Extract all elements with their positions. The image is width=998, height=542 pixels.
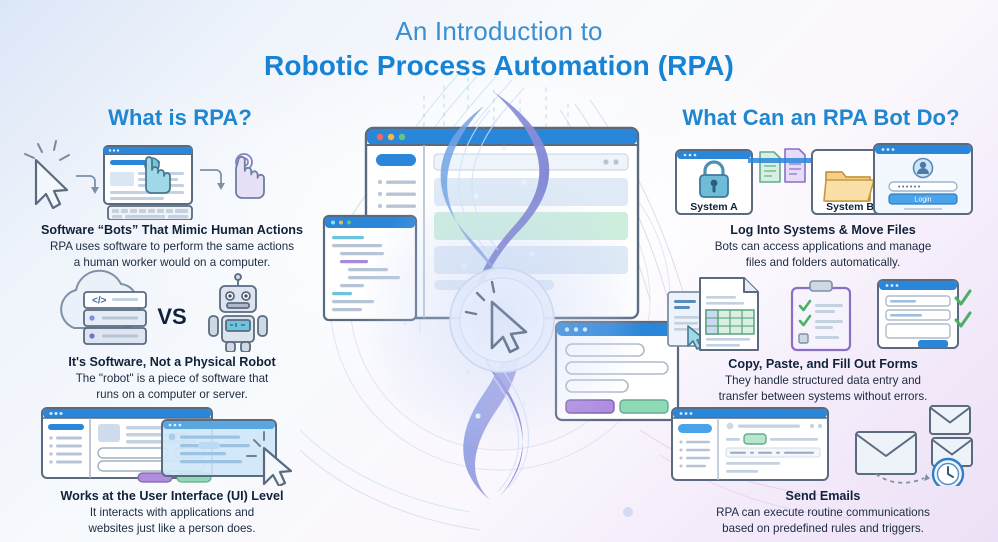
title-line-1: An Introduction to	[0, 14, 998, 48]
feature-desc-line-2: websites just like a person does.	[12, 521, 332, 537]
robot-icon	[209, 274, 267, 352]
illustration-cloud-vs-robot: </> VS	[12, 268, 332, 350]
code-glyph: </>	[92, 296, 107, 307]
envelope-icon	[856, 432, 916, 474]
feature-software-not-robot: </> VS	[12, 268, 332, 402]
vs-label: VS	[157, 304, 186, 329]
page-title: An Introduction to Robotic Process Autom…	[0, 14, 998, 84]
keyboard-icon	[108, 206, 192, 220]
feature-desc-line-1: The "robot" is a piece of software that	[12, 371, 332, 387]
arrow-icon	[876, 474, 930, 483]
illustration-ui-level	[12, 402, 332, 484]
envelope-icon	[930, 406, 970, 434]
feature-title: Copy, Paste, and Fill Out Forms	[660, 356, 986, 373]
login-button-label: Login	[914, 197, 931, 204]
email-client-window-icon	[672, 408, 828, 480]
spark-lines	[25, 141, 69, 160]
clipboard-checklist-icon	[792, 281, 850, 350]
center-illustration	[318, 86, 682, 506]
feature-desc-line-2: files and folders automatically.	[660, 255, 986, 271]
feature-desc-line-1: They handle structured data entry and	[660, 373, 986, 389]
feature-title: Works at the User Interface (UI) Level	[12, 488, 332, 505]
feature-ui-level: Works at the User Interface (UI) Level I…	[12, 402, 332, 536]
feature-title: Software “Bots” That Mimic Human Actions	[12, 222, 332, 239]
feature-desc-line-1: RPA uses software to perform the same ac…	[12, 239, 332, 255]
feature-log-into-systems: System A	[660, 136, 986, 270]
illustration-systems-and-files: System A	[660, 136, 986, 218]
system-a-window: System A	[676, 150, 752, 214]
login-window-icon: •••••• Login	[874, 144, 972, 214]
system-b-label: System B	[826, 201, 874, 213]
table-icon	[706, 310, 754, 334]
feature-desc-line-1: Bots can access applications and manage	[660, 239, 986, 255]
password-mask: ••••••	[898, 184, 922, 191]
infographic-page: An Introduction to Robotic Process Autom…	[0, 0, 998, 542]
form-window-icon	[878, 280, 970, 348]
feature-desc-line-1: RPA can execute routine communications	[660, 505, 986, 521]
feature-title: Log Into Systems & Move Files	[660, 222, 986, 239]
tap-hand-icon	[236, 154, 264, 198]
illustration-bots-mimic-actions	[12, 136, 332, 218]
avatar-icon	[914, 159, 933, 178]
mouse-cursor-icon	[36, 160, 67, 208]
center-glow	[360, 172, 642, 454]
server-stack-icon: </>	[84, 292, 146, 344]
right-column-heading: What Can an RPA Bot Do?	[658, 105, 984, 131]
system-a-label: System A	[690, 201, 738, 213]
document-purple-icon	[785, 149, 805, 182]
feature-desc-line-2: based on predefined rules and triggers.	[660, 521, 986, 537]
overlay-window-icon	[162, 420, 276, 476]
feature-title: It's Software, Not a Physical Robot	[12, 354, 332, 371]
click-cursor-icon	[264, 448, 291, 486]
feature-software-bots: Software “Bots” That Mimic Human Actions…	[12, 136, 332, 270]
document-green-icon	[760, 152, 780, 182]
title-line-2: Robotic Process Automation (RPA)	[0, 48, 998, 84]
feature-desc-line-2: runs on a computer or server.	[12, 387, 332, 403]
feature-title: Send Emails	[660, 488, 986, 505]
folder-icon	[824, 172, 874, 201]
illustration-copy-paste-forms	[660, 270, 986, 352]
left-column-heading: What is RPA?	[20, 105, 340, 131]
clock-icon	[933, 459, 963, 486]
spreadsheet-document-icon	[700, 278, 758, 350]
feature-desc-line-1: It interacts with applications and	[12, 505, 332, 521]
feature-copy-paste-forms: Copy, Paste, and Fill Out Forms They han…	[660, 270, 986, 404]
illustration-send-emails	[660, 402, 986, 484]
feature-send-emails: Send Emails RPA can execute routine comm…	[660, 402, 986, 536]
